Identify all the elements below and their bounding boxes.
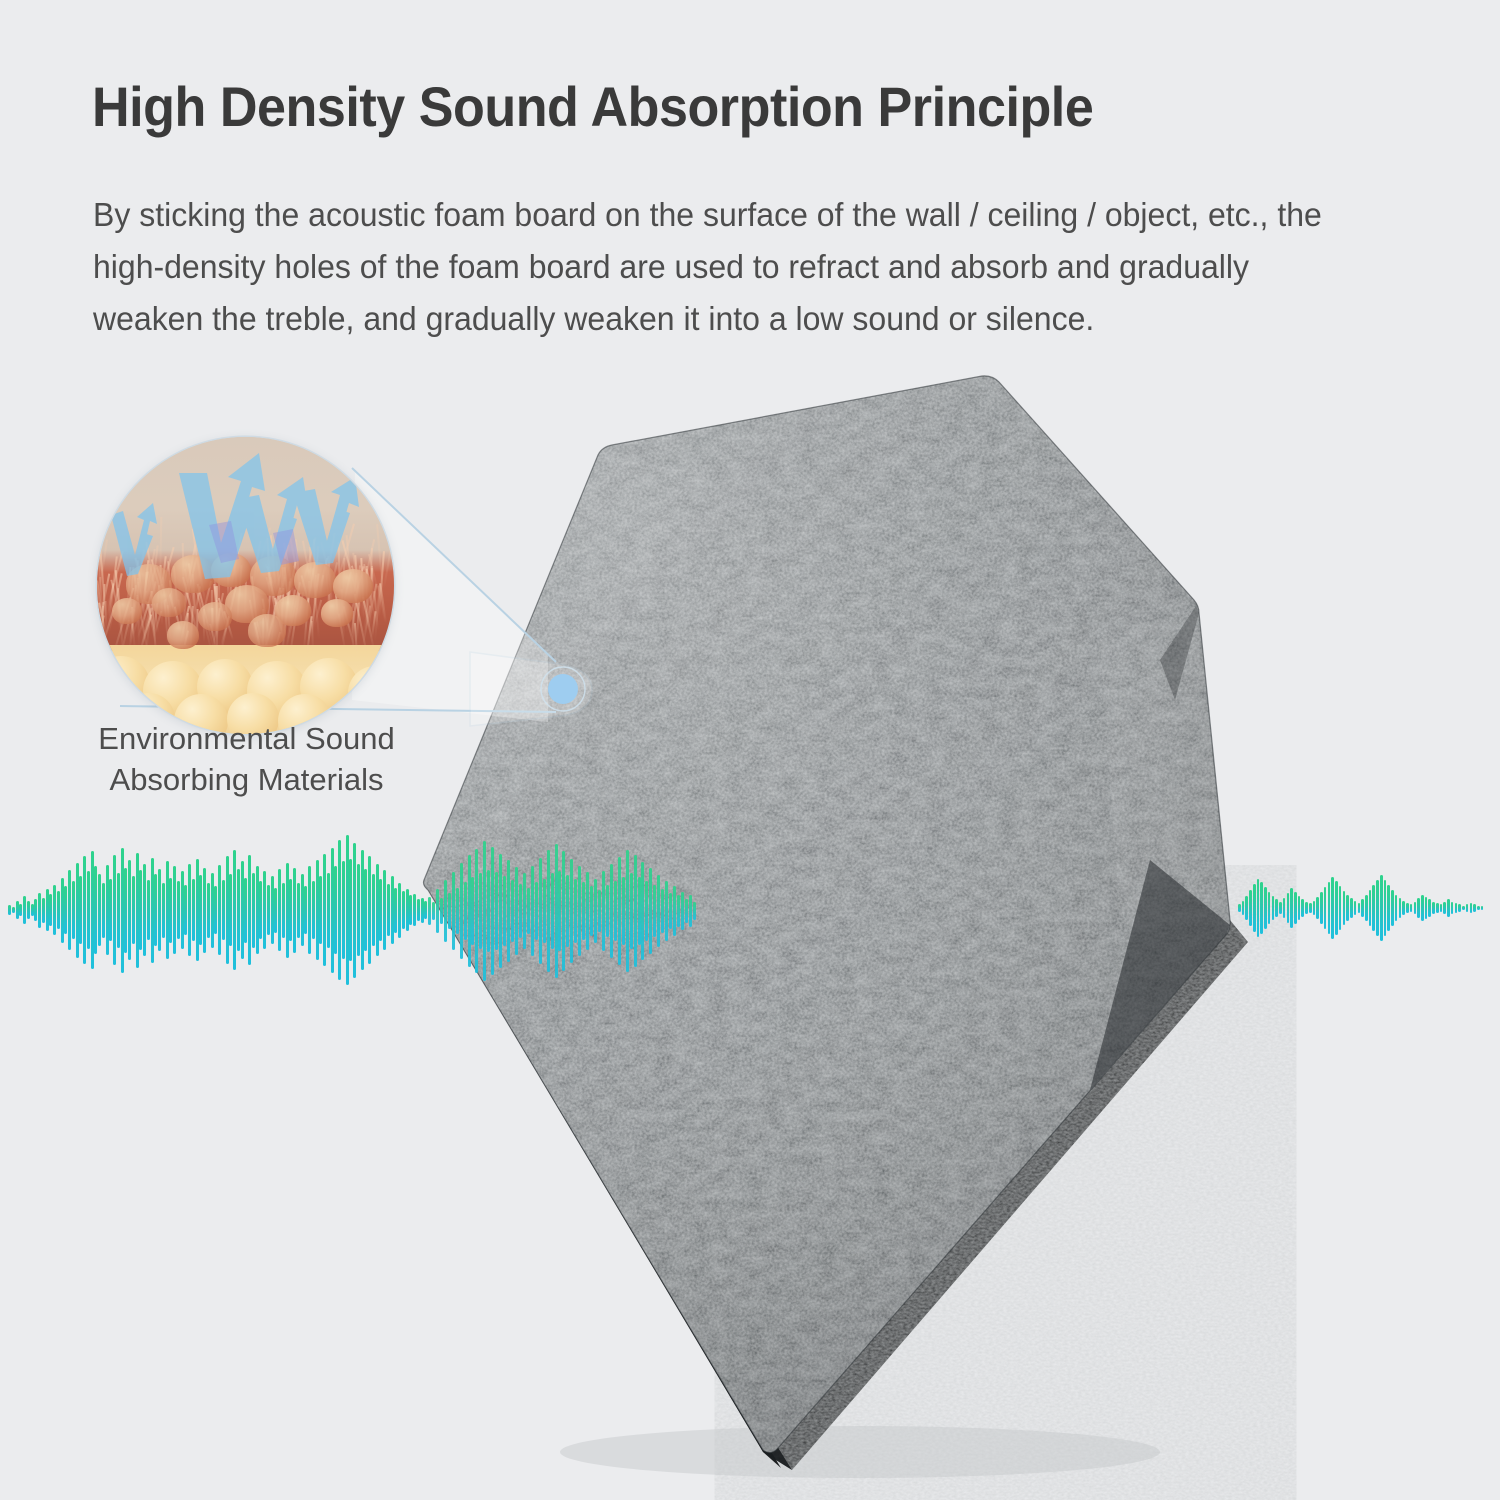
waveform-bar <box>1343 891 1346 925</box>
waveform-bar <box>222 880 225 940</box>
waveform-bar <box>618 857 621 966</box>
waveform-bar <box>1473 904 1476 911</box>
waveform-bar <box>334 866 337 954</box>
waveform-bar <box>68 870 71 950</box>
waveform-bar <box>1436 903 1439 913</box>
waveform-bar <box>1477 906 1480 911</box>
waveform-bar <box>121 848 124 973</box>
waveform-bar <box>638 877 641 944</box>
waveform-bar <box>539 858 542 964</box>
waveform-bar <box>535 882 538 939</box>
waveform-bar <box>132 876 135 944</box>
waveform-bar <box>1287 893 1290 922</box>
waveform-bar <box>574 879 577 944</box>
waveform-bar <box>297 883 300 938</box>
waveform-bar <box>286 863 289 958</box>
waveform-bar <box>1320 892 1323 924</box>
waveform-bar <box>1432 902 1435 914</box>
waveform-bar <box>547 850 550 972</box>
waveform-bar <box>27 901 30 920</box>
waveform-bar <box>582 882 585 939</box>
waveform-bar <box>229 874 232 947</box>
waveform-bar <box>1387 885 1390 931</box>
waveform-bar <box>1339 886 1342 930</box>
waveform-bar <box>1358 903 1361 913</box>
waveform-bar <box>468 855 471 966</box>
waveform-bar <box>598 890 601 931</box>
waveform-bar <box>1414 902 1417 914</box>
waveform-bar <box>16 901 19 919</box>
waveform-bar <box>448 893 451 929</box>
waveform-bar <box>12 907 15 913</box>
waveform-bar <box>487 870 490 953</box>
infographic-canvas: High Density Sound Absorption Principle … <box>0 0 1500 1500</box>
waveform-bar <box>327 873 330 948</box>
waveform-bar <box>379 879 382 942</box>
waveform-attenuated-sound <box>1238 872 1484 944</box>
waveform-bar <box>113 855 116 965</box>
waveform-bar <box>117 873 120 948</box>
waveform-bar <box>323 854 326 967</box>
waveform-bar <box>1470 903 1473 913</box>
waveform-bar <box>602 871 605 951</box>
waveform-bar <box>1421 895 1424 922</box>
waveform-bar <box>203 868 206 953</box>
waveform-bar <box>1443 902 1446 914</box>
waveform-bar <box>1417 898 1420 918</box>
waveform-bar <box>1272 896 1275 920</box>
waveform-bar <box>1301 899 1304 916</box>
waveform-bar <box>346 835 349 985</box>
waveform-bar <box>278 869 281 952</box>
waveform-bar <box>1369 890 1372 927</box>
waveform-bar <box>87 871 90 949</box>
waveform-bar <box>626 850 629 972</box>
waveform-bar <box>46 889 49 932</box>
waveform-bar <box>387 884 390 937</box>
waveform-bar <box>471 877 474 944</box>
waveform-bar <box>1384 880 1387 936</box>
waveform-bar <box>634 855 637 966</box>
waveform-bar <box>1331 877 1334 938</box>
waveform-bar <box>1395 895 1398 922</box>
waveform-bar <box>428 897 431 926</box>
waveform-bar <box>456 888 459 935</box>
waveform-bar <box>128 860 131 960</box>
waveform-bar <box>364 869 367 952</box>
waveform-bar <box>214 886 217 934</box>
waveform-bar <box>606 885 609 937</box>
waveform-bar <box>173 866 176 954</box>
waveform-absorbed-sound <box>428 838 696 984</box>
waveform-bar <box>406 889 409 932</box>
waveform-bar <box>342 861 345 959</box>
waveform-bar <box>1458 904 1461 911</box>
waveform-bar <box>1279 902 1282 914</box>
waveform-bar <box>657 875 660 948</box>
waveform-bar <box>1455 903 1458 913</box>
waveform-bar <box>417 899 420 922</box>
waveform-bar <box>98 874 101 947</box>
waveform-bar <box>196 859 199 962</box>
waveform-bar <box>479 873 482 948</box>
waveform-bar <box>586 872 589 950</box>
waveform-bar <box>578 866 581 957</box>
waveform-bar <box>475 849 478 973</box>
waveform-bar <box>421 898 424 923</box>
waveform-bar <box>76 863 79 958</box>
waveform-bar <box>1380 875 1383 941</box>
waveform-bar <box>312 881 315 939</box>
waveform-bar <box>263 871 266 949</box>
waveform-bar <box>1283 898 1286 918</box>
waveform-bar <box>376 864 379 957</box>
waveform-bar <box>207 883 210 938</box>
waveform-bar <box>237 869 240 952</box>
waveform-bar <box>304 886 307 934</box>
waveform-bar <box>1402 901 1405 916</box>
waveform-bar <box>248 855 251 965</box>
waveform-bar <box>1376 880 1379 936</box>
waveform-bar <box>124 868 127 953</box>
waveform-bar <box>610 864 613 957</box>
waveform-bar <box>1305 902 1308 914</box>
waveform-bar <box>1328 882 1331 933</box>
waveform-bar <box>38 893 41 928</box>
waveform-bar <box>244 878 247 943</box>
material-magnifier-inset <box>97 437 394 734</box>
waveform-bar <box>551 873 554 948</box>
waveform-bar <box>391 876 394 944</box>
waveform-bar <box>1335 881 1338 935</box>
waveform-bar <box>394 888 397 933</box>
waveform-bar <box>274 888 277 933</box>
waveform-bar <box>1447 899 1450 916</box>
waveform-bar <box>1361 899 1364 916</box>
waveform-bar <box>136 853 139 968</box>
waveform-bar <box>1365 895 1368 922</box>
waveform-bar <box>57 891 60 929</box>
waveform-bar <box>1313 901 1316 916</box>
waveform-bar <box>413 894 416 927</box>
waveform-bar <box>436 889 439 933</box>
waveform-bar <box>677 895 680 926</box>
waveform-bar <box>1346 895 1349 922</box>
waveform-bar <box>1425 897 1428 919</box>
waveform-bar <box>147 880 150 940</box>
waveform-bar <box>491 847 494 974</box>
waveform-bar <box>256 866 259 954</box>
waveform-bar <box>641 862 644 961</box>
waveform-bar <box>158 869 161 952</box>
waveform-bar <box>19 904 22 917</box>
waveform-bar <box>1410 904 1413 911</box>
waveform-bar <box>685 899 688 922</box>
waveform-bar <box>241 861 244 959</box>
waveform-bar <box>184 885 187 935</box>
waveform-bar <box>79 876 82 945</box>
waveform-bar <box>1451 902 1454 914</box>
waveform-bar <box>665 881 668 941</box>
waveform-bar <box>523 873 526 948</box>
waveform-bar <box>1290 888 1293 927</box>
waveform-bar <box>34 899 37 922</box>
waveform-bar <box>1294 892 1297 924</box>
waveform-bar <box>1354 901 1357 916</box>
waveform-bar <box>460 863 463 959</box>
waveform-bar <box>349 859 352 962</box>
waveform-bar <box>289 879 292 942</box>
waveform-bar <box>1238 904 1241 911</box>
waveform-bar <box>42 898 45 923</box>
waveform-bar <box>444 880 447 942</box>
waveform-bar <box>301 874 304 947</box>
waveform-bar <box>424 901 427 919</box>
waveform-bar <box>199 875 202 945</box>
waveform-bar <box>1428 899 1431 916</box>
waveform-bar <box>316 860 319 960</box>
waveform-bar <box>590 886 593 935</box>
waveform-bar <box>91 851 94 970</box>
waveform-bar <box>139 870 142 950</box>
inset-caption-line2: Absorbing Materials <box>74 759 419 800</box>
waveform-bar <box>308 866 311 954</box>
waveform-bar <box>432 902 435 920</box>
waveform-bar <box>1298 896 1301 920</box>
waveform-bar <box>267 885 270 935</box>
waveform-bar <box>1309 903 1312 913</box>
waveform-bar <box>211 873 214 948</box>
waveform-bar <box>1462 906 1465 911</box>
waveform-bar <box>1324 887 1327 929</box>
waveform-bar <box>507 860 510 961</box>
waveform-bar <box>527 888 530 935</box>
waveform-bar <box>353 843 356 978</box>
waveform-bar <box>64 886 67 934</box>
waveform-bar <box>566 875 569 948</box>
waveform-bar <box>1268 892 1271 924</box>
waveform-bar <box>361 850 364 970</box>
waveform-bar <box>192 879 195 942</box>
waveform-bar <box>282 883 285 938</box>
waveform-bar <box>94 866 97 954</box>
waveform-bar <box>452 872 455 950</box>
waveform-bar <box>154 874 157 947</box>
waveform-bar <box>1316 897 1319 919</box>
waveform-bar <box>1372 885 1375 931</box>
waveform-bar <box>645 881 648 941</box>
waveform-bar <box>543 879 546 944</box>
waveform-bar <box>693 902 696 920</box>
waveform-bar <box>143 864 146 957</box>
waveform-bar <box>106 865 109 955</box>
waveform-bar <box>259 881 262 939</box>
waveform-bar <box>319 876 322 944</box>
waveform-bar <box>689 895 692 926</box>
waveform-bar <box>622 877 625 944</box>
waveform-bar <box>372 874 375 947</box>
waveform-bar <box>188 864 191 957</box>
waveform-bar <box>169 878 172 943</box>
waveform-bar <box>499 854 502 968</box>
waveform-bar <box>630 873 633 948</box>
waveform-bar <box>181 871 184 949</box>
waveform-bar <box>49 894 52 927</box>
waveform-bar <box>673 886 676 935</box>
waveform-bar <box>1406 903 1409 913</box>
waveform-bar <box>177 881 180 939</box>
waveform-bar <box>357 864 360 957</box>
waveform-incoming-sound <box>8 830 428 990</box>
waveform-bar <box>562 851 565 970</box>
waveform-bar <box>1242 901 1245 916</box>
waveform-bar <box>368 856 371 964</box>
waveform-bar <box>338 840 341 980</box>
waveform-bar <box>594 879 597 944</box>
waveform-bar <box>464 882 467 939</box>
waveform-bar <box>511 880 514 942</box>
waveform-bar <box>72 881 75 939</box>
sound-wave-arrows <box>97 437 394 734</box>
waveform-bar <box>570 859 573 963</box>
waveform-bar <box>681 892 684 931</box>
waveform-bar <box>252 873 255 948</box>
waveform-bar <box>1440 904 1443 911</box>
waveform-bar <box>383 870 386 950</box>
waveform-bar <box>1350 898 1353 918</box>
waveform-bar <box>1249 890 1252 927</box>
waveform-bar <box>398 883 401 938</box>
waveform-bar <box>53 885 56 935</box>
waveform-bar <box>661 889 664 933</box>
waveform-bar <box>271 876 274 944</box>
waveform-bar <box>614 881 617 941</box>
waveform-bar <box>1481 906 1484 910</box>
waveform-bar <box>61 878 64 943</box>
waveform-bar <box>23 896 26 924</box>
waveform-bar <box>555 844 558 979</box>
waveform-bar <box>1260 882 1263 933</box>
waveform-bar <box>8 905 11 915</box>
waveform-bar <box>218 865 221 955</box>
waveform-bar <box>226 856 229 964</box>
waveform-bar <box>1264 887 1267 929</box>
waveform-bar <box>483 841 486 981</box>
waveform-bar <box>440 898 443 924</box>
waveform-bar <box>1275 899 1278 916</box>
waveform-bar <box>402 891 405 929</box>
waveform-bar <box>653 885 656 937</box>
waveform-bar <box>1391 890 1394 927</box>
waveform-bar <box>503 876 506 946</box>
waveform-bar <box>558 871 561 951</box>
inset-caption: Environmental Sound Absorbing Materials <box>74 718 419 800</box>
waveform-bar <box>515 867 518 955</box>
waveform-bar <box>1466 904 1469 911</box>
waveform-bar <box>519 884 522 938</box>
waveform-bar <box>162 883 165 938</box>
waveform-bar <box>151 858 154 963</box>
waveform-bar <box>669 893 672 929</box>
waveform-bar <box>109 879 112 942</box>
waveform-bar <box>102 883 105 938</box>
inset-caption-line1: Environmental Sound <box>74 718 419 759</box>
waveform-bar <box>31 904 34 915</box>
waveform-bar <box>83 856 86 964</box>
waveform-bar <box>293 868 296 953</box>
waveform-bar <box>649 868 652 954</box>
waveform-bar <box>1399 898 1402 918</box>
waveform-bar <box>409 895 412 925</box>
waveform-bar <box>1257 879 1260 938</box>
waveform-bar <box>166 861 169 959</box>
waveform-bar <box>1253 884 1256 933</box>
waveform-bar <box>1245 896 1248 920</box>
waveform-bar <box>531 866 534 957</box>
waveform-bar <box>331 848 334 973</box>
waveform-bar <box>495 872 498 950</box>
waveform-bar <box>233 850 236 970</box>
